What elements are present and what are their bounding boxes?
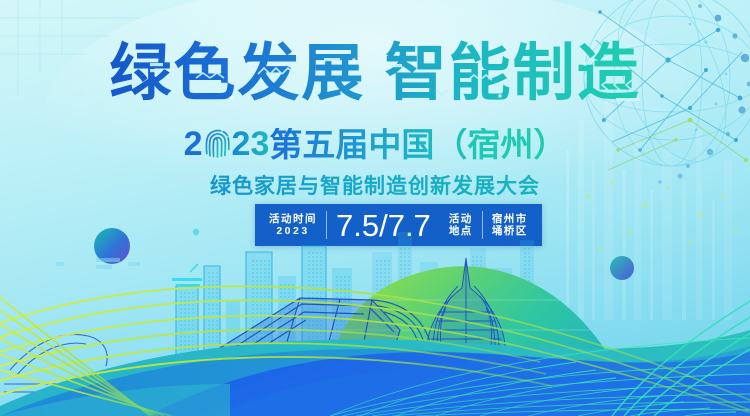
conference-banner: 绿色发展 智能制造	[0, 0, 750, 416]
event-date: 7.5/7.7	[327, 204, 440, 246]
event-place-label-top: 活动	[449, 213, 473, 225]
event-city: 宿州市	[492, 213, 528, 225]
page-title: 绿色发展 智能制造	[0, 38, 750, 110]
event-district: 埇桥区	[492, 225, 528, 237]
event-place-value: 宿州市 埇桥区	[483, 204, 528, 246]
subtitle-line: 2	[0, 122, 750, 166]
event-time-labels: 活动时间 2023	[269, 204, 326, 246]
event-place-label-bottom: 地点	[449, 225, 473, 237]
page-title-text: 绿色发展 智能制造	[109, 39, 640, 108]
subtitle-text: 第五届中国（宿州）	[269, 128, 566, 161]
event-place-labels: 活动 地点	[440, 204, 482, 246]
year-prefix: 2	[184, 127, 203, 161]
fingerprint-icon	[204, 129, 231, 159]
event-time-label: 活动时间	[269, 213, 317, 225]
event-year: 2023	[276, 225, 309, 237]
year-suffix: 23	[232, 127, 270, 161]
tagline: 绿色家居与智能制造创新发展大会	[0, 170, 750, 200]
event-info-bar: 活动时间 2023 7.5/7.7 活动 地点 宿州市 埇桥区	[255, 204, 542, 246]
